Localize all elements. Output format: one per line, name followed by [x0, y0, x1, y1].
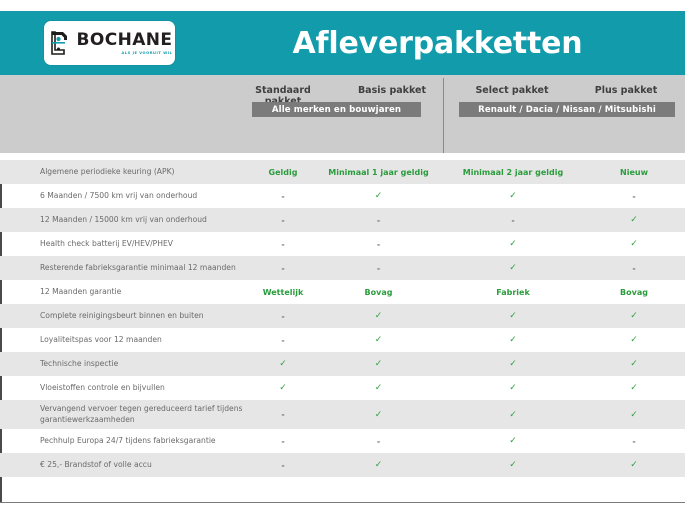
logo-tagline: ALS JE VOORUIT WIL — [121, 50, 172, 56]
check-icon: ✓ — [509, 460, 517, 470]
feature-cell: - — [583, 264, 685, 273]
table-row: Loyaliteitspas voor 12 maanden-✓✓✓ — [0, 328, 685, 352]
feature-cell: ✓ — [252, 359, 314, 369]
feature-cell: ✓ — [314, 359, 443, 369]
feature-cell: ✓ — [583, 460, 685, 470]
feature-cell: ✓ — [443, 410, 583, 420]
check-icon: ✓ — [509, 191, 517, 201]
feature-cell: - — [252, 437, 314, 446]
feature-cell: Bovag — [583, 288, 685, 297]
feature-cell: Minimaal 1 jaar geldig — [314, 168, 443, 177]
package-name-plus: Plus pakket — [580, 85, 672, 96]
check-icon: ✓ — [375, 460, 383, 470]
dash-icon: - — [377, 216, 380, 225]
dash-icon: - — [281, 264, 284, 273]
feature-label: Loyaliteitspas voor 12 maanden — [0, 335, 252, 346]
table-row: € 25,- Brandstof of volle accu-✓✓✓ — [0, 453, 685, 477]
feature-cell: ✓ — [314, 460, 443, 470]
feature-label: 12 Maanden garantie — [0, 287, 252, 298]
feature-cell: - — [252, 192, 314, 201]
feature-cell: ✓ — [443, 239, 583, 249]
table-top-gap — [0, 153, 685, 160]
dash-icon: - — [281, 240, 284, 249]
feature-cell: ✓ — [443, 263, 583, 273]
feature-label: Health check batterij EV/HEV/PHEV — [0, 239, 252, 250]
check-icon: ✓ — [509, 263, 517, 273]
feature-cell: ✓ — [443, 359, 583, 369]
table-row: Algemene periodieke keuring (APK)GeldigM… — [0, 160, 685, 184]
feature-cell: ✓ — [314, 335, 443, 345]
feature-cell: ✓ — [314, 191, 443, 201]
check-icon: ✓ — [375, 335, 383, 345]
cell-text: Bovag — [620, 288, 648, 297]
table-row: Resterende fabrieksgarantie minimaal 12 … — [0, 256, 685, 280]
bochane-logo: BOCHANE ALS JE VOORUIT WIL — [44, 21, 175, 65]
check-icon: ✓ — [509, 239, 517, 249]
right-group-banner-text: Renault / Dacia / Nissan / Mitsubishi — [478, 105, 656, 115]
feature-cell: - — [314, 264, 443, 273]
feature-cell: - — [252, 410, 314, 419]
check-icon: ✓ — [630, 311, 638, 321]
feature-label: Resterende fabrieksgarantie minimaal 12 … — [0, 263, 252, 274]
feature-cell: - — [252, 264, 314, 273]
dash-icon: - — [281, 312, 284, 321]
check-icon: ✓ — [375, 410, 383, 420]
check-icon: ✓ — [375, 191, 383, 201]
feature-label: Vloeistoffen controle en bijvullen — [0, 383, 252, 394]
feature-cell: ✓ — [443, 191, 583, 201]
page-header: Afleverpakketten BOCHANE ALS JE VOORUIT … — [0, 11, 685, 75]
feature-cell: ✓ — [583, 410, 685, 420]
bochane-mark-icon — [49, 30, 71, 56]
feature-cell: - — [443, 216, 583, 225]
cell-text: Fabriek — [496, 288, 530, 297]
check-icon: ✓ — [630, 239, 638, 249]
feature-cell: ✓ — [583, 239, 685, 249]
column-header-block: Standaard pakket Basis pakket Select pak… — [0, 75, 685, 153]
cell-text: Geldig — [269, 168, 298, 177]
feature-cell: - — [252, 461, 314, 470]
dash-icon: - — [377, 437, 380, 446]
check-icon: ✓ — [509, 311, 517, 321]
feature-cell: Geldig — [252, 168, 314, 177]
logo-wordmark: BOCHANE — [77, 31, 173, 49]
feature-cell: Wettelijk — [252, 288, 314, 297]
check-icon: ✓ — [375, 359, 383, 369]
feature-cell: ✓ — [443, 383, 583, 393]
check-icon: ✓ — [630, 460, 638, 470]
cell-text: Wettelijk — [263, 288, 304, 297]
dash-icon: - — [281, 216, 284, 225]
dash-icon: - — [632, 192, 635, 201]
feature-cell: - — [252, 336, 314, 345]
feature-cell: - — [314, 216, 443, 225]
table-row: Health check batterij EV/HEV/PHEV--✓✓ — [0, 232, 685, 256]
feature-cell: ✓ — [583, 335, 685, 345]
feature-label: Pechhulp Europa 24/7 tijdens fabrieksgar… — [0, 436, 252, 447]
feature-label: Technische inspectie — [0, 359, 252, 370]
left-group-banner-text: Alle merken en bouwjaren — [272, 105, 401, 115]
check-icon: ✓ — [279, 359, 287, 369]
feature-label: Algemene periodieke keuring (APK) — [0, 167, 252, 178]
feature-cell: - — [252, 216, 314, 225]
dash-icon: - — [377, 240, 380, 249]
table-footer-row — [0, 477, 685, 503]
check-icon: ✓ — [630, 359, 638, 369]
check-icon: ✓ — [375, 311, 383, 321]
table-row: Pechhulp Europa 24/7 tijdens fabrieksgar… — [0, 429, 685, 453]
left-group-banner: Alle merken en bouwjaren — [252, 102, 421, 117]
check-icon: ✓ — [279, 383, 287, 393]
dash-icon: - — [281, 437, 284, 446]
cell-text: Bovag — [365, 288, 393, 297]
right-group-banner: Renault / Dacia / Nissan / Mitsubishi — [459, 102, 675, 117]
check-icon: ✓ — [509, 359, 517, 369]
check-icon: ✓ — [375, 383, 383, 393]
feature-cell: ✓ — [443, 436, 583, 446]
dash-icon: - — [511, 216, 514, 225]
feature-label: 12 Maanden / 15000 km vrij van onderhoud — [0, 215, 252, 226]
feature-cell: ✓ — [314, 311, 443, 321]
check-icon: ✓ — [630, 215, 638, 225]
check-icon: ✓ — [630, 410, 638, 420]
feature-cell: - — [252, 240, 314, 249]
package-name-select: Select pakket — [466, 85, 558, 96]
table-row: Vervangend vervoer tegen gereduceerd tar… — [0, 400, 685, 429]
table-row: Complete reinigingsbeurt binnen en buite… — [0, 304, 685, 328]
cell-text: Nieuw — [620, 168, 648, 177]
feature-cell: Minimaal 2 jaar geldig — [443, 168, 583, 177]
table-row: 12 Maanden / 15000 km vrij van onderhoud… — [0, 208, 685, 232]
feature-label: 6 Maanden / 7500 km vrij van onderhoud — [0, 191, 252, 202]
dash-icon: - — [281, 461, 284, 470]
feature-cell: - — [583, 437, 685, 446]
dash-icon: - — [377, 264, 380, 273]
package-name-basis: Basis pakket — [346, 85, 438, 96]
feature-cell: ✓ — [583, 383, 685, 393]
feature-cell: ✓ — [443, 460, 583, 470]
dash-icon: - — [281, 336, 284, 345]
table-row: Technische inspectie✓✓✓✓ — [0, 352, 685, 376]
feature-label: Complete reinigingsbeurt binnen en buite… — [0, 311, 252, 322]
feature-cell: - — [314, 437, 443, 446]
feature-cell: Bovag — [314, 288, 443, 297]
check-icon: ✓ — [509, 410, 517, 420]
dash-icon: - — [632, 264, 635, 273]
feature-cell: ✓ — [443, 311, 583, 321]
feature-label: Vervangend vervoer tegen gereduceerd tar… — [0, 404, 252, 425]
feature-cell: ✓ — [252, 383, 314, 393]
feature-cell: ✓ — [583, 215, 685, 225]
feature-cell: ✓ — [583, 359, 685, 369]
table-row: Vloeistoffen controle en bijvullen✓✓✓✓ — [0, 376, 685, 400]
afleverpakketten-page: Afleverpakketten BOCHANE ALS JE VOORUIT … — [0, 0, 685, 514]
page-title-text: Afleverpakketten — [293, 26, 583, 61]
feature-cell: - — [314, 240, 443, 249]
table-row: 6 Maanden / 7500 km vrij van onderhoud-✓… — [0, 184, 685, 208]
feature-cell: Nieuw — [583, 168, 685, 177]
feature-cell: ✓ — [583, 311, 685, 321]
check-icon: ✓ — [630, 335, 638, 345]
check-icon: ✓ — [509, 335, 517, 345]
feature-cell: - — [252, 312, 314, 321]
feature-cell: ✓ — [443, 335, 583, 345]
dash-icon: - — [281, 410, 284, 419]
cell-text: Minimaal 2 jaar geldig — [463, 168, 564, 177]
features-table: Algemene periodieke keuring (APK)GeldigM… — [0, 153, 685, 503]
check-icon: ✓ — [509, 383, 517, 393]
feature-cell: ✓ — [314, 410, 443, 420]
table-row: 12 Maanden garantieWettelijkBovagFabriek… — [0, 280, 685, 304]
dash-icon: - — [632, 437, 635, 446]
feature-cell: ✓ — [314, 383, 443, 393]
feature-cell: Fabriek — [443, 288, 583, 297]
check-icon: ✓ — [630, 383, 638, 393]
dash-icon: - — [281, 192, 284, 201]
feature-label: € 25,- Brandstof of volle accu — [0, 460, 252, 471]
check-icon: ✓ — [509, 436, 517, 446]
feature-cell: - — [583, 192, 685, 201]
cell-text: Minimaal 1 jaar geldig — [328, 168, 429, 177]
